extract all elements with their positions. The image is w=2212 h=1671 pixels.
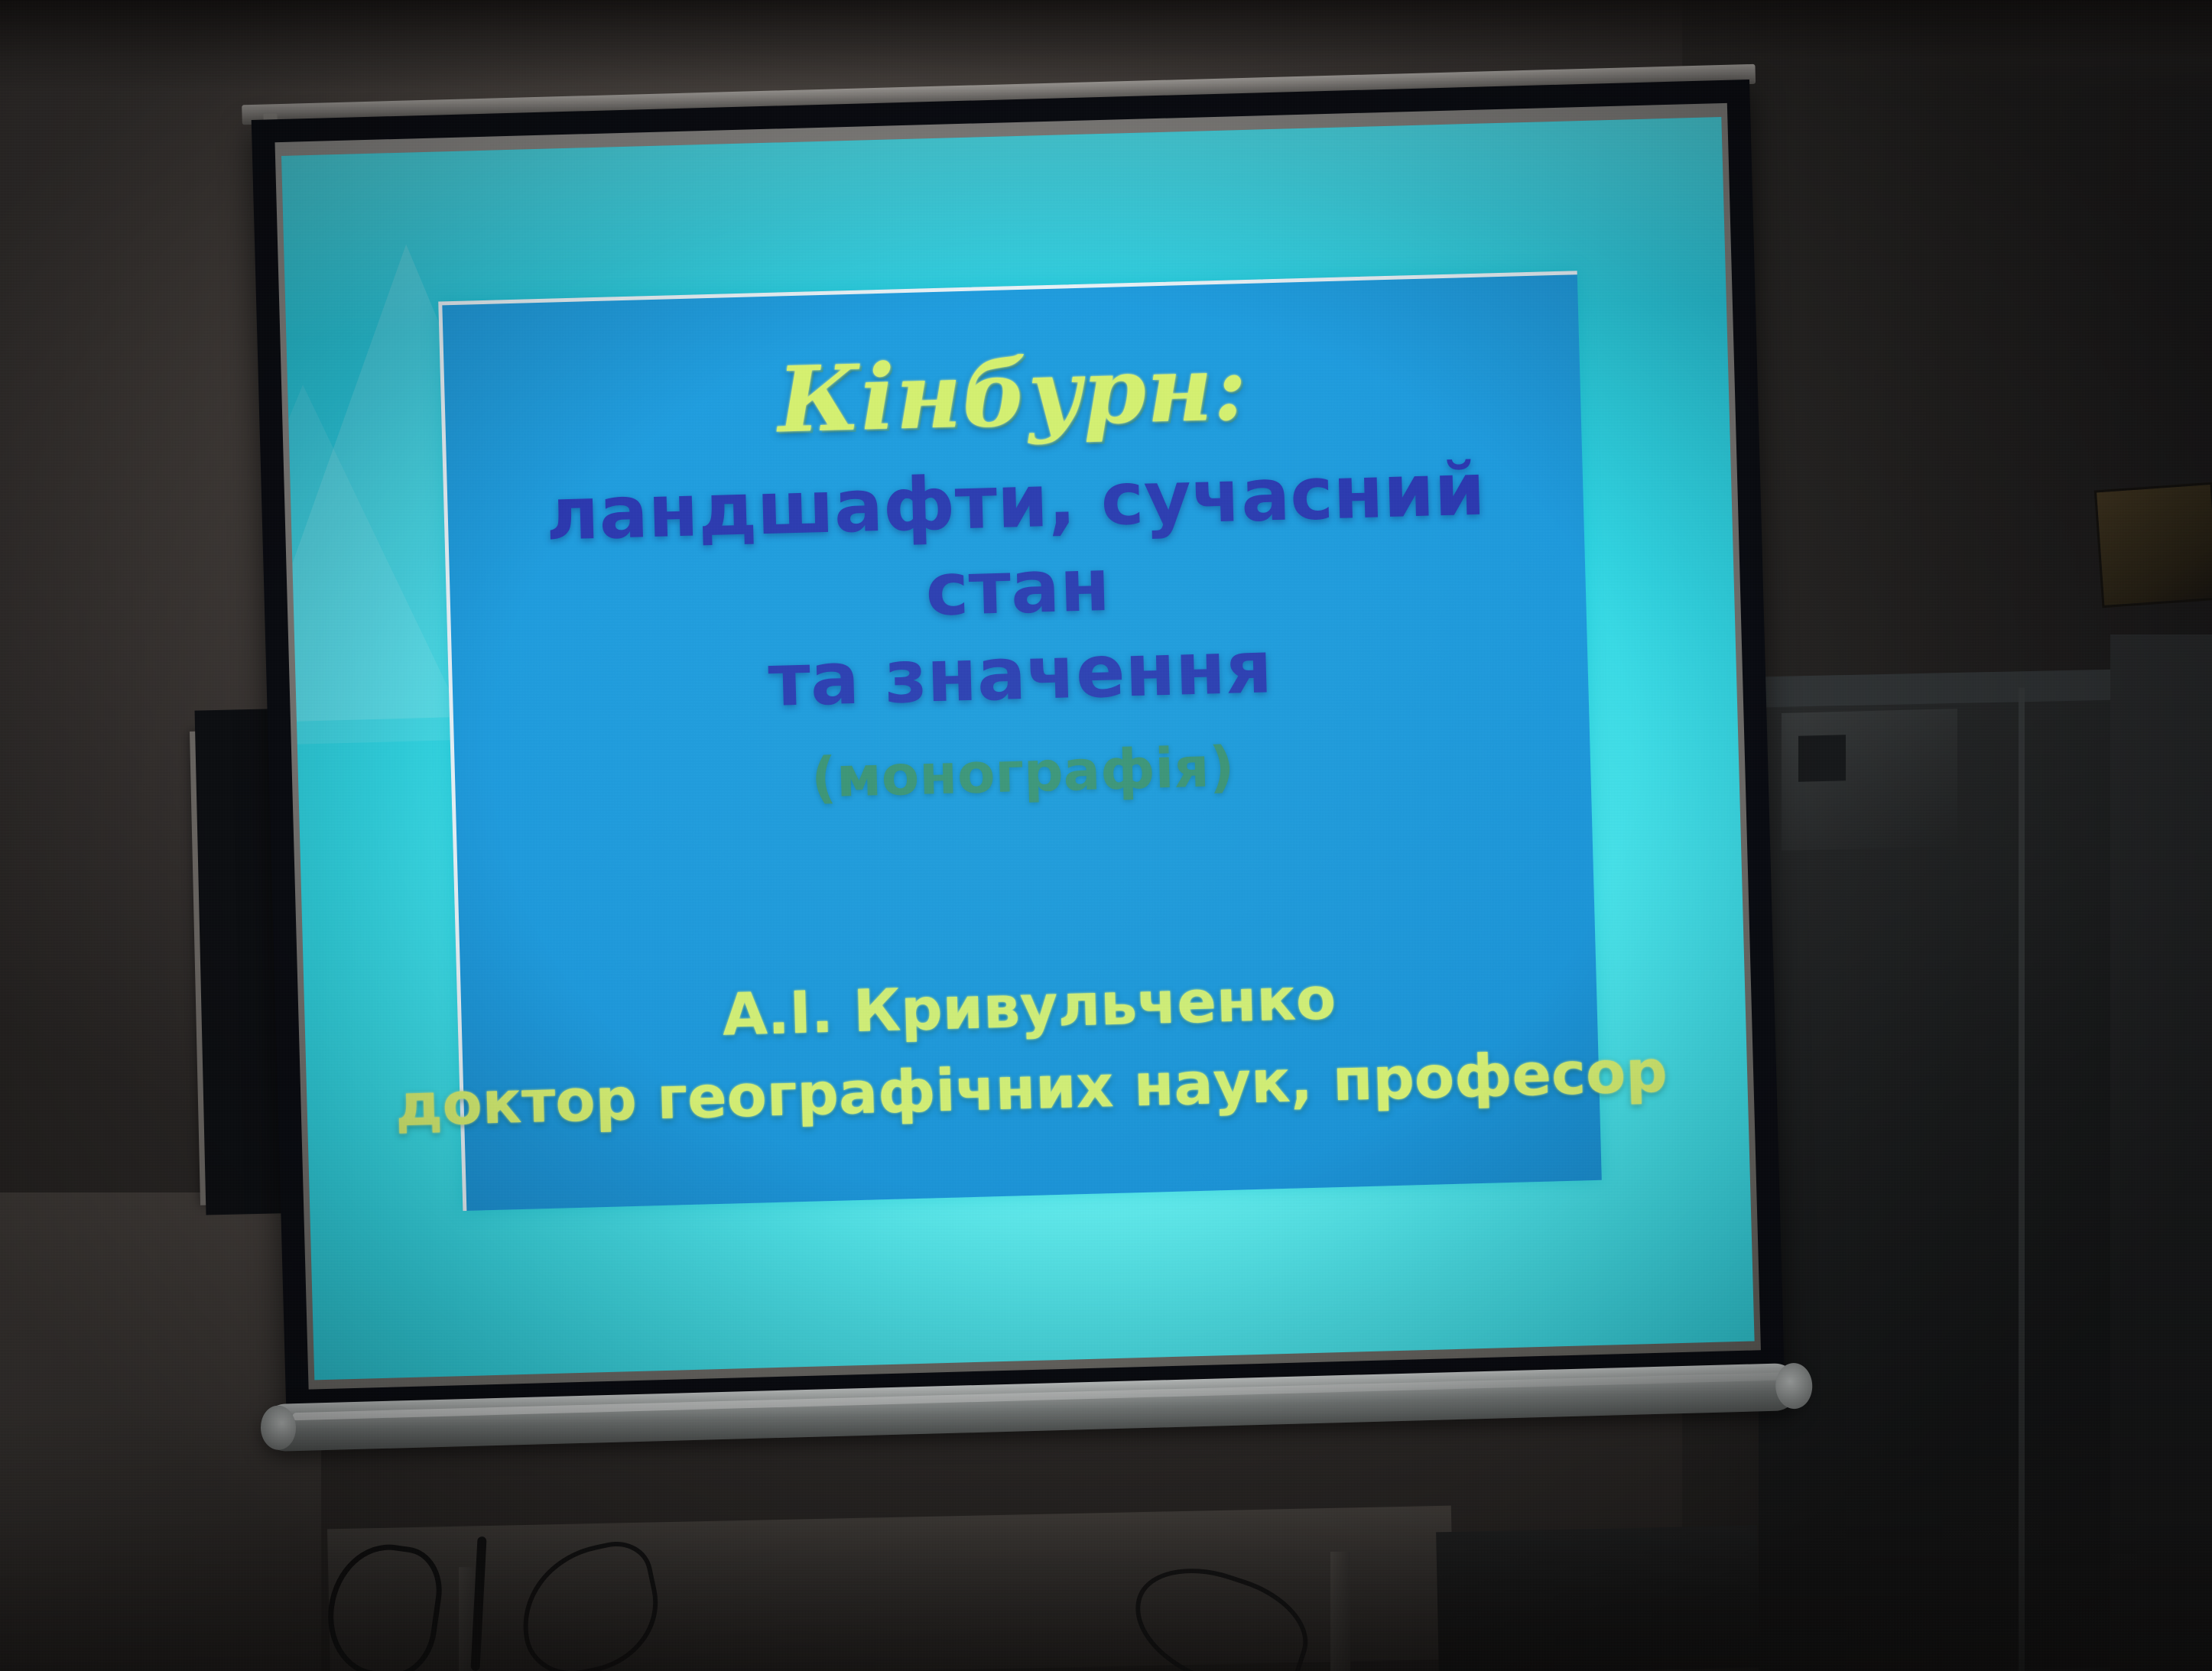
cabinet-box-label [1798,735,1846,782]
slide-publication-kind: (монографія) [810,734,1236,810]
slide-title: Кінбурн: [777,342,1249,446]
slide-author-credentials: доктор географічних наук, професор [395,1037,1668,1139]
presentation-slide: Кінбурн: ландшафти, сучасний стан та зна… [438,271,1602,1211]
slide-subtitle-line-1: ландшафти, сучасний стан [469,445,1564,646]
slide-subtitle: ландшафти, сучасний стан та значення [469,445,1566,732]
projected-image: Кінбурн: ландшафти, сучасний стан та зна… [281,117,1755,1380]
wall-bottom-shadow [0,1411,2212,1671]
slide-spacer [1024,804,1028,972]
slide-author-name: А.І. Кривульченко [722,964,1337,1049]
photo-scene: Кінбурн: ландшафти, сучасний стан та зна… [0,0,2212,1671]
wall-sign [2094,482,2212,608]
screen-weight-bar-cap-right [1775,1362,1813,1409]
projector-screen: Кінбурн: ландшафти, сучасний стан та зна… [232,0,1817,1549]
